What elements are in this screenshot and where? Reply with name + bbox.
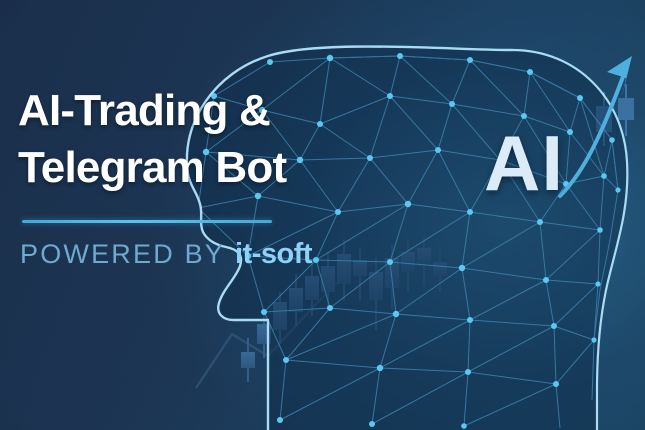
brand-name-label: it-soft — [235, 238, 312, 271]
headline-line-1: AI-Trading & — [18, 82, 418, 139]
headline-block: AI-Trading & Telegram Bot — [18, 82, 418, 196]
upward-trend-arrow-icon — [0, 0, 645, 430]
ai-label: AI — [484, 124, 564, 202]
headline-line-2: Telegram Bot — [18, 139, 418, 196]
divider-rule — [22, 220, 272, 223]
powered-by-row: POWERED BY it-soft — [20, 238, 312, 271]
powered-by-label: POWERED BY — [20, 239, 225, 270]
promo-banner: AI AI-Trading & Telegram Bot POWERED BY … — [0, 0, 645, 430]
